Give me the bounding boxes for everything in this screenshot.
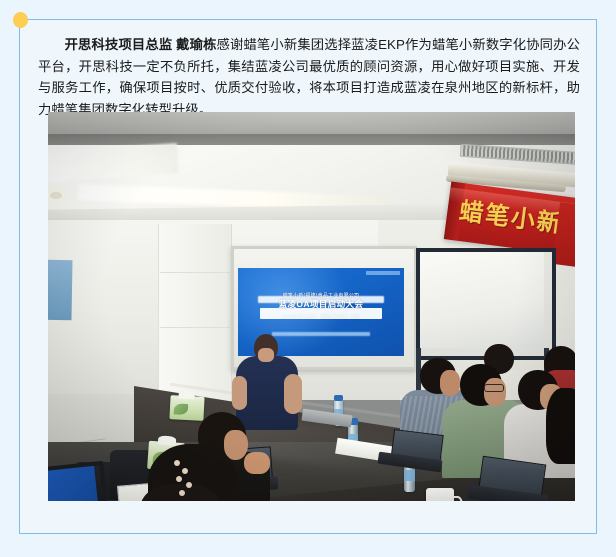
hair-clip-icon	[186, 482, 192, 488]
card-top-border	[19, 19, 597, 20]
tissue-sheet	[158, 435, 177, 445]
presenter-arm	[232, 376, 247, 410]
accent-dot-icon	[13, 12, 28, 28]
screen-text-block: 蜡笔小新(福建)食品工业有限公司 蓝凌OA项目启动大会 2023年8月 主办方：…	[238, 292, 404, 321]
wall-seam	[160, 272, 230, 273]
wall-seam	[160, 327, 230, 328]
attendee-hands	[244, 452, 270, 474]
wall-column	[158, 224, 232, 404]
presenter-face	[258, 348, 274, 362]
tissue-box	[169, 395, 204, 421]
bottle-label	[404, 470, 415, 481]
hair-clip-icon	[182, 468, 188, 474]
attendee-face	[440, 370, 460, 396]
article-lead: 开思科技项目总监 戴瑜栋	[65, 37, 217, 52]
screen-corner-logo	[366, 271, 400, 275]
screen-footer-bar	[272, 332, 370, 336]
wall-blue-panel	[48, 260, 73, 320]
presenter-arm	[284, 374, 302, 414]
article-body: 开思科技项目总监 戴瑜栋感谢蜡笔小新集团选择蓝凌EKP作为蜡笔小新数字化协同办公…	[38, 34, 580, 120]
hair-clip-icon	[174, 460, 180, 466]
screen-footer-line: 2023年8月 主办方：蜡笔小新 承办：蓝凌	[238, 313, 404, 321]
eyeglasses-icon	[484, 384, 504, 392]
whiteboard-surface	[420, 252, 544, 348]
attendee-face	[484, 378, 506, 406]
hair-clip-icon	[176, 476, 182, 482]
hair-clip-icon	[179, 490, 185, 496]
tissue-box-leaf-icon	[174, 403, 189, 415]
screen-title-line: 蓝凌OA项目启动大会	[238, 300, 404, 308]
attendee-hair	[546, 388, 575, 464]
photo-canvas: 蜡笔小新 蜡笔小新(福建)食品工业有限公司 蓝凌OA项目启动大会 2023年8月…	[48, 112, 575, 501]
tissue-sheet	[178, 391, 194, 400]
bottle-cap	[334, 395, 343, 401]
downlight-icon	[50, 192, 62, 199]
coffee-mug	[426, 488, 454, 501]
event-photo: 蜡笔小新 蜡笔小新(福建)食品工业有限公司 蓝凌OA项目启动大会 2023年8月…	[48, 112, 575, 501]
